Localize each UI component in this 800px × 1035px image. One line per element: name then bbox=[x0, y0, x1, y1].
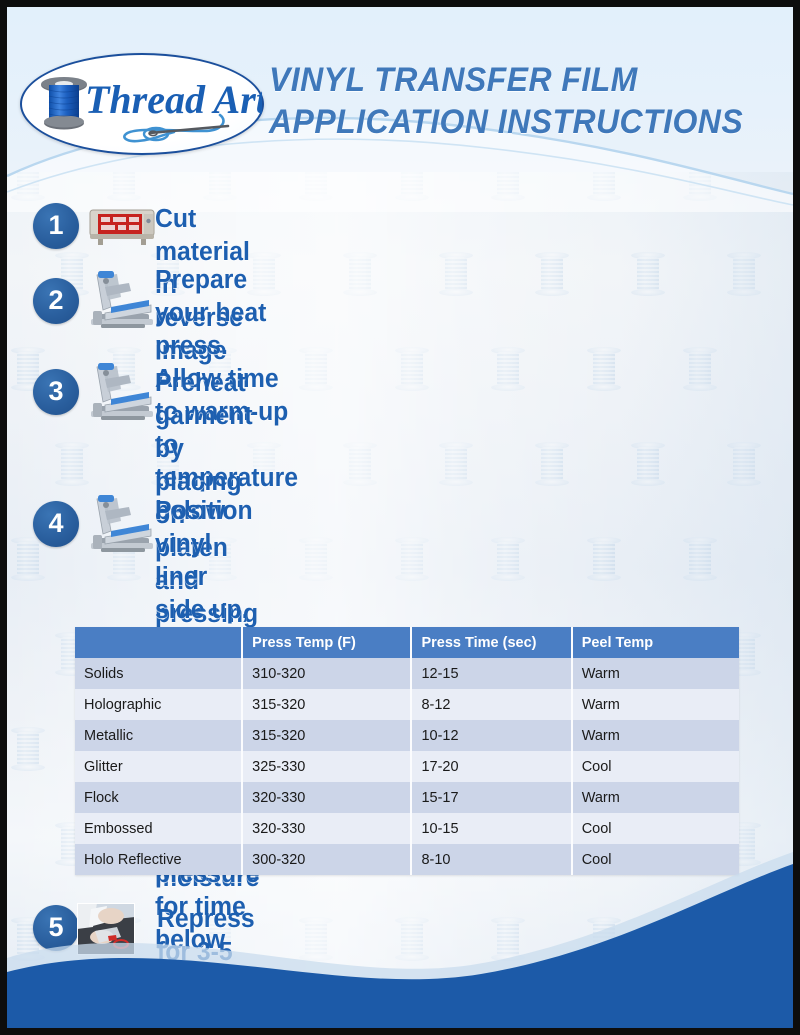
table-header-material bbox=[75, 627, 242, 658]
table-cell-value: 310-320 bbox=[242, 658, 411, 689]
table-header-peel-temp: Peel Temp bbox=[572, 627, 739, 658]
thread-art-logo: Thread Art bbox=[20, 53, 264, 155]
title-line-1: VINYL TRANSFER FILM bbox=[269, 59, 744, 101]
heat-press-icon bbox=[81, 359, 159, 430]
footer-wave-decoration bbox=[7, 838, 793, 1028]
step-2-number: 2 bbox=[33, 278, 79, 324]
table-cell-value: Warm bbox=[572, 689, 739, 720]
step-4-number: 4 bbox=[33, 501, 79, 547]
step-4-number-badge: 4 bbox=[33, 501, 79, 547]
table-cell-value: 315-320 bbox=[242, 689, 411, 720]
table-cell-value: 320-330 bbox=[242, 782, 411, 813]
page-title: VINYL TRANSFER FILM APPLICATION INSTRUCT… bbox=[269, 59, 744, 143]
table-cell-material: Flock bbox=[75, 782, 242, 813]
table-cell-value: Warm bbox=[572, 782, 739, 813]
page-frame: Thread Art VINYL TRANSFER FILM APPLICATI… bbox=[7, 7, 793, 1028]
table-row: Glitter325-33017-20Cool bbox=[75, 751, 739, 782]
heat-press-icon bbox=[81, 491, 159, 562]
step-3-number-badge: 3 bbox=[33, 369, 79, 415]
logo-artwork: Thread Art bbox=[22, 55, 262, 153]
step-2-number-badge: 2 bbox=[33, 278, 79, 324]
logo-wordmark: Thread Art bbox=[85, 77, 262, 122]
table-row: Flock320-33015-17Warm bbox=[75, 782, 739, 813]
table-cell-value: 8-12 bbox=[411, 689, 571, 720]
table-cell-material: Solids bbox=[75, 658, 242, 689]
table-cell-value: Warm bbox=[572, 658, 739, 689]
title-line-2: APPLICATION INSTRUCTIONS bbox=[269, 101, 744, 143]
table-cell-material: Holographic bbox=[75, 689, 242, 720]
table-header-row: Press Temp (F) Press Time (sec) Peel Tem… bbox=[75, 627, 739, 658]
step-1-number: 1 bbox=[33, 203, 79, 249]
table-cell-value: 325-330 bbox=[242, 751, 411, 782]
table-header-press-time: Press Time (sec) bbox=[411, 627, 571, 658]
heat-press-icon bbox=[81, 267, 159, 338]
table-cell-value: 17-20 bbox=[411, 751, 571, 782]
table-cell-material: Glitter bbox=[75, 751, 242, 782]
thread-spool-icon bbox=[41, 77, 87, 130]
table-cell-value: Warm bbox=[572, 720, 739, 751]
table-row: Metallic315-32010-12Warm bbox=[75, 720, 739, 751]
table-cell-value: 315-320 bbox=[242, 720, 411, 751]
table-row: Holographic315-3208-12Warm bbox=[75, 689, 739, 720]
table-cell-value: 10-12 bbox=[411, 720, 571, 751]
table-cell-value: Cool bbox=[572, 751, 739, 782]
table-cell-value: 12-15 bbox=[411, 658, 571, 689]
table-cell-material: Metallic bbox=[75, 720, 242, 751]
table-row: Solids310-32012-15Warm bbox=[75, 658, 739, 689]
table-header-press-temp: Press Temp (F) bbox=[242, 627, 411, 658]
step-3-number: 3 bbox=[33, 369, 79, 415]
table-cell-value: 15-17 bbox=[411, 782, 571, 813]
vinyl-cutter-plotter-icon bbox=[89, 205, 155, 252]
instruction-sheet-page: Thread Art VINYL TRANSFER FILM APPLICATI… bbox=[0, 0, 800, 1035]
step-1-number-badge: 1 bbox=[33, 203, 79, 249]
